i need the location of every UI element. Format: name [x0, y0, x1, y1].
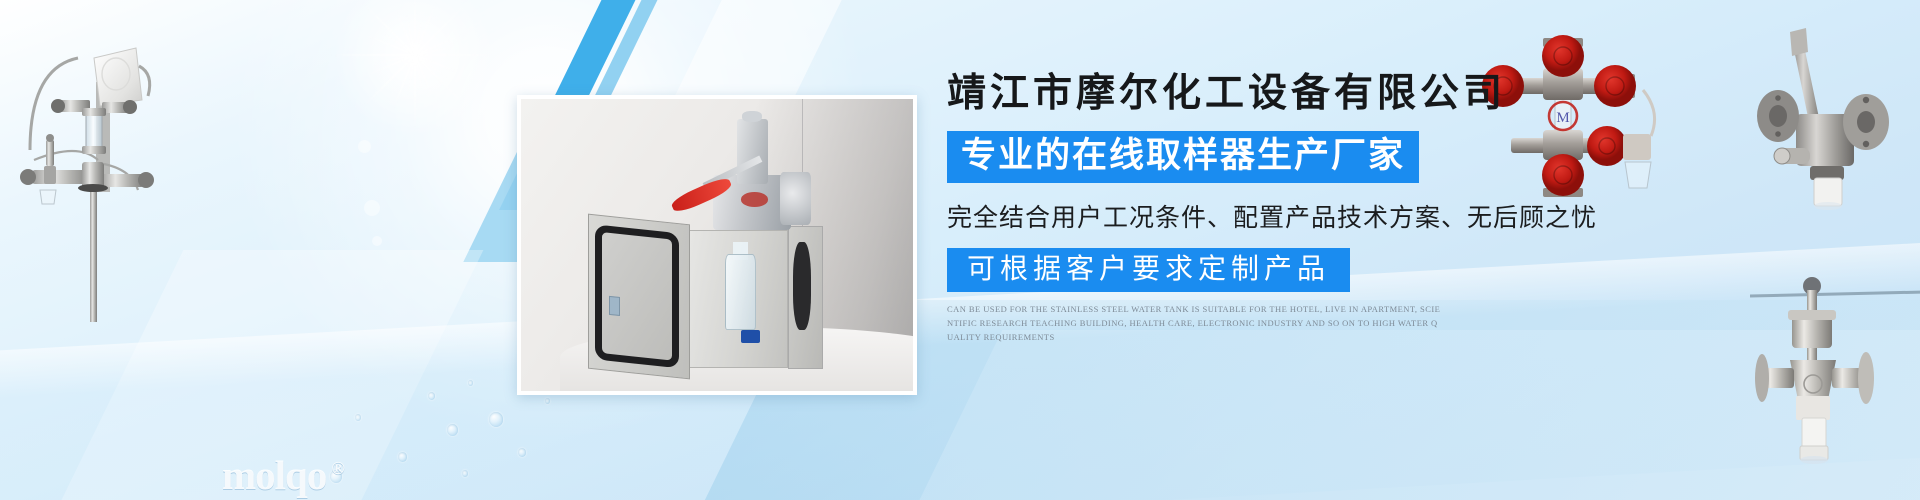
english-line-3: UALITY REQUIREMENTS: [947, 331, 1512, 345]
registered-mark-icon: ®: [331, 458, 343, 478]
english-description: CAN BE USED FOR THE STAINLESS STEEL WATE…: [947, 303, 1512, 344]
lens-flare-dot: [372, 236, 382, 246]
watermark-text: molqo: [222, 452, 326, 498]
brand-watermark: molqo®: [222, 455, 344, 496]
lens-flare-dot: [358, 140, 371, 153]
sun-flare-icon: [300, 0, 530, 170]
lens-flare-dot: [364, 200, 380, 216]
english-line-1: CAN BE USED FOR THE STAINLESS STEEL WATE…: [947, 303, 1512, 317]
water-droplet: [462, 470, 468, 477]
secondary-badge: 可根据客户要求定制产品: [947, 248, 1350, 293]
right-lever-product-image: [1740, 18, 1920, 218]
water-droplet: [518, 448, 526, 457]
company-name: 靖江市摩尔化工设备有限公司: [947, 72, 1667, 117]
right-bottom-product-image: [1750, 268, 1920, 500]
water-droplet: [330, 470, 342, 483]
water-droplet: [355, 414, 361, 421]
headline-badge: 专业的在线取样器生产厂家: [947, 131, 1419, 183]
water-droplet: [468, 380, 473, 386]
water-droplet: [545, 398, 550, 404]
water-droplet: [428, 392, 435, 400]
water-droplet: [489, 412, 503, 427]
english-line-2: NTIFIC RESEARCH TEACHING BUILDING, HEALT…: [947, 317, 1512, 331]
water-droplet: [447, 424, 458, 436]
left-product-image: [8, 22, 178, 322]
promotional-banner: M: [0, 0, 1920, 500]
water-droplet: [398, 452, 407, 462]
subline-text: 完全结合用户工况条件、配置产品技术方案、无后顾之忧: [947, 198, 1667, 234]
center-product-photo: [517, 95, 917, 395]
banner-copy: 靖江市摩尔化工设备有限公司 专业的在线取样器生产厂家 完全结合用户工况条件、配置…: [947, 72, 1667, 345]
